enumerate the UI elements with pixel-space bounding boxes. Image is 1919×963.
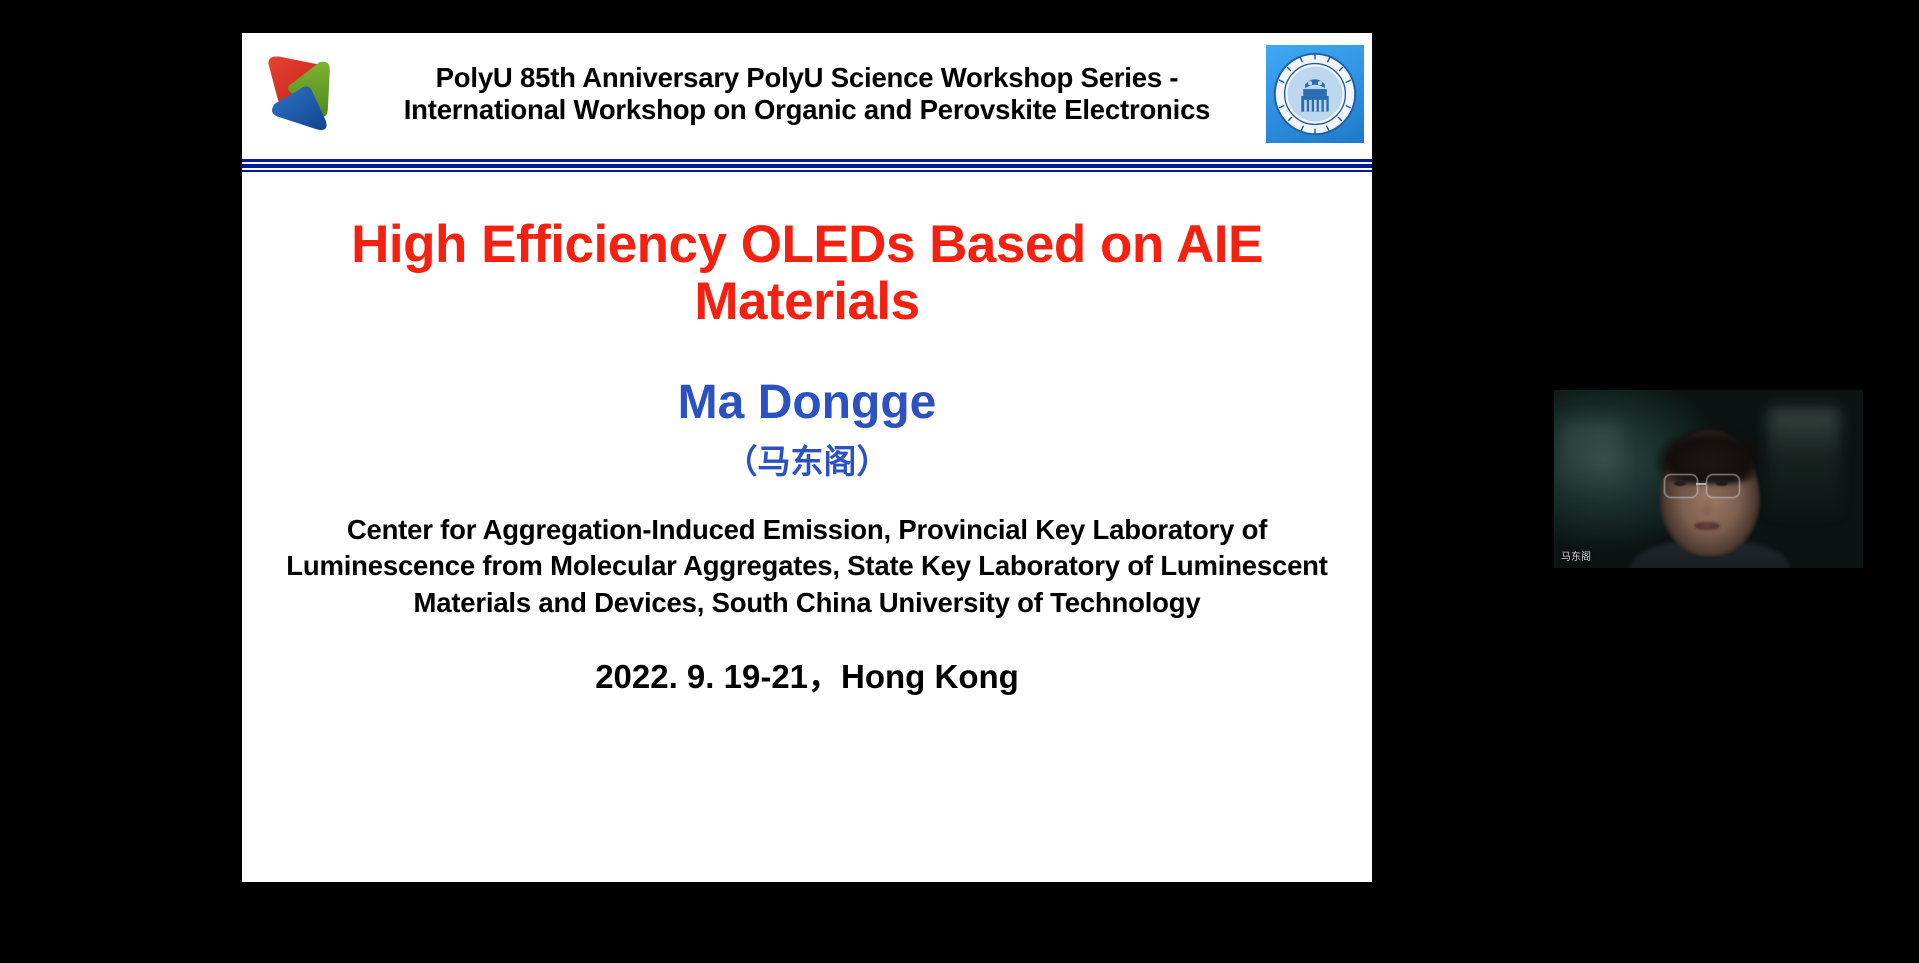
screen-share-stage: PolyU 85th Anniversary PolyU Science Wor… <box>0 0 1919 963</box>
participant-right-eye <box>1716 481 1728 486</box>
participant-webcam-figure <box>1646 424 1774 568</box>
participant-mouth <box>1694 522 1720 530</box>
glasses-left-lens-icon <box>1664 474 1698 498</box>
polyu-triangle-play-logo-icon <box>252 46 348 142</box>
participant-video-tile[interactable]: 马东阁 <box>1554 390 1863 568</box>
video-background-shelf-left <box>1562 420 1622 494</box>
shared-presentation-slide[interactable]: PolyU 85th Anniversary PolyU Science Wor… <box>242 33 1372 882</box>
glasses-bridge-icon <box>1696 483 1706 485</box>
slide-body: High Efficiency OLEDs Based on AIE Mater… <box>242 172 1372 882</box>
scut-university-seal-icon <box>1266 45 1364 143</box>
talk-title: High Efficiency OLEDs Based on AIE Mater… <box>242 172 1372 330</box>
slide-header-band: PolyU 85th Anniversary PolyU Science Wor… <box>242 33 1372 155</box>
speaker-name-chinese: （马东阁） <box>242 429 1372 480</box>
header-divider-inner-white-line <box>242 162 1372 164</box>
participant-name-label: 马东阁 <box>1561 553 1591 563</box>
event-date-location: 2022. 9. 19-21，Hong Kong <box>242 621 1372 695</box>
glasses-right-lens-icon <box>1706 474 1740 498</box>
video-background-shelf-right <box>1768 408 1840 516</box>
workshop-header-title: PolyU 85th Anniversary PolyU Science Wor… <box>348 62 1266 126</box>
speaker-affiliation: Center for Aggregation-Induced Emission,… <box>242 480 1372 622</box>
participant-nose <box>1701 498 1714 516</box>
speaker-name: Ma Dongge <box>242 330 1372 428</box>
participant-left-eye <box>1674 481 1686 486</box>
